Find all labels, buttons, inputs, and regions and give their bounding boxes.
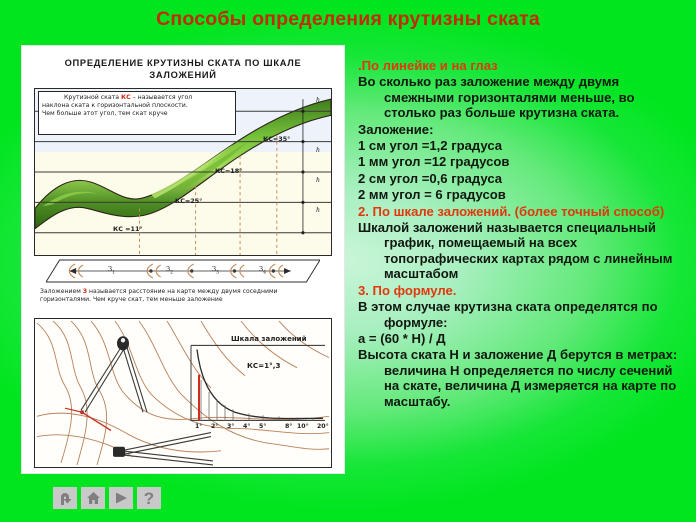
home-icon [86,491,101,505]
diagram-caption: Заложением З называется расстояние на ка… [40,288,326,305]
slope-label-35: КС=35° [263,135,290,143]
scale-chart-label: Шкала заложений [231,335,307,343]
height-mark-2: h [316,147,320,154]
help-button[interactable]: ? [137,487,161,509]
definition-line3: Чем больше этот угол, тем скат круче [42,110,232,118]
illustration-card: ОПРЕДЕЛЕНИЕ КРУТИЗНЫ СКАТА ПО ШКАЛЕ ЗАЛО… [22,46,344,473]
contour-map-diagram: Шкала заложений КС=1°,3 1° 2° 3° 4° 5° 8… [34,318,332,468]
tick-3deg: 3° [227,423,234,430]
tick-5deg: 5° [259,423,266,430]
tick-20deg: 20° [317,423,329,430]
plane-label-z3: З3 [212,265,219,275]
tick-8deg: 8° [285,423,292,430]
diagram-heading: ОПРЕДЕЛЕНИЕ КРУТИЗНЫ СКАТА ПО ШКАЛЕ ЗАЛО… [36,58,330,81]
plane-label-z2: З2 [166,265,173,275]
tick-1deg: 1° [195,423,202,430]
definition-line1-pre: Крутизной ската [64,94,121,101]
caption-pre: Заложением [40,288,83,295]
undo-arrow-icon [58,491,72,506]
definition-box: Крутизной ската КС – называется угол нак… [38,91,236,135]
zalozhenie-label: Заложение: [358,122,690,137]
height-mark-4: h [316,207,320,214]
scale-chart-value: КС=1°,3 [247,361,281,370]
height-mark-1: h [316,97,320,104]
navigation-bar: ? [53,487,161,509]
slope-label-25: КС=25° [175,197,202,205]
method-2-header: 2. По шкале заложений. (более точный спо… [358,204,690,219]
slide-root: Способы определения крутизны ската ОПРЕД… [0,0,696,522]
tick-10deg: 10° [297,423,309,430]
tick-2deg: 2° [211,423,218,430]
height-mark-3: h [316,177,320,184]
zalozhenie-row-2: 1 мм угол =12 градусов [358,154,690,169]
question-mark-icon: ? [144,490,154,507]
method-1-header: .По линейке и на глаз [358,58,690,73]
tick-4deg: 4° [243,423,250,430]
formula: a = (60 * Н) / Д [358,331,690,346]
slope-illustration: Крутизной ската КС – называется угол нак… [34,88,332,256]
back-button[interactable] [53,487,77,509]
method-2-body: Шкалой заложений называется специальный … [358,220,690,282]
next-button[interactable] [109,487,133,509]
content-text-column: .По линейке и на глаз Во сколько раз зал… [358,58,690,410]
method-3-body-2: Высота ската Н и заложение Д берутся в м… [358,347,690,409]
plane-label-z1: З1 [108,265,115,275]
slope-angle-diagram: ОПРЕДЕЛЕНИЕ КРУТИЗНЫ СКАТА ПО ШКАЛЕ ЗАЛО… [30,52,336,310]
page-title: Способы определения крутизны ската [0,8,696,31]
definition-line1-post: – называется угол [131,94,193,101]
kc-accent: КС [121,94,131,101]
zalozhenie-row-4: 2 мм угол = 6 градусов [358,187,690,202]
method-3-body: В этом случае крутизна ската определятся… [358,299,690,330]
play-triangle-icon [114,491,128,505]
slope-label-11: КС =11° [113,225,143,233]
zalozhenie-row-1: 1 см угол =1,2 градуса [358,138,690,153]
zalozhenie-row-3: 2 см угол =0,6 градуса [358,171,690,186]
plane-label-z4: З4 [259,265,266,275]
map-plane-diagram: З1 З2 З3 З4 [46,258,320,284]
slope-label-18: КС=18° [215,167,242,175]
method-3-header: 3. По формуле. [358,283,690,298]
home-button[interactable] [81,487,105,509]
method-1-body: Во сколько раз заложение между двумя сме… [358,74,690,120]
